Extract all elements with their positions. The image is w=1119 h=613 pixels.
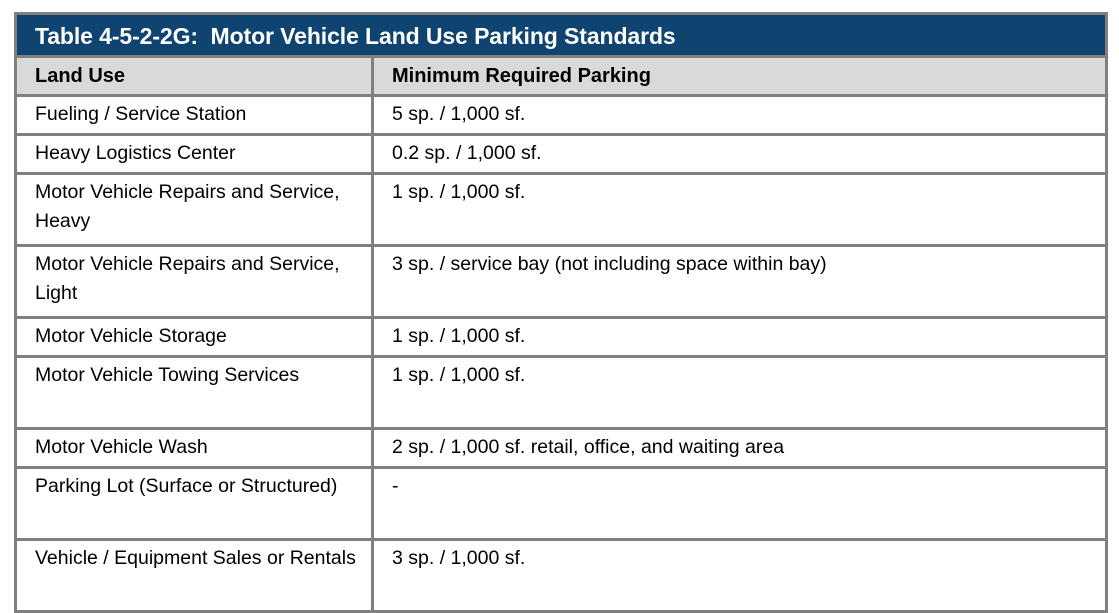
cell-parking: 1 sp. / 1,000 sf. (373, 318, 1107, 357)
cell-text: 1 sp. / 1,000 sf. (374, 319, 1105, 355)
cell-text: Motor Vehicle Wash (17, 430, 371, 466)
column-header-minimum-required-parking: Minimum Required Parking (373, 57, 1107, 96)
cell-land-use: Motor Vehicle Wash (16, 429, 373, 468)
table-title-cell: Table 4-5-2-2G: Motor Vehicle Land Use P… (16, 14, 1107, 57)
cell-parking: 0.2 sp. / 1,000 sf. (373, 135, 1107, 174)
table-row: Motor Vehicle Towing Services 1 sp. / 1,… (16, 357, 1107, 429)
cell-text: Motor Vehicle Storage (17, 319, 371, 355)
cell-land-use: Parking Lot (Surface or Structured) (16, 468, 373, 540)
cell-land-use: Fueling / Service Station (16, 96, 373, 135)
cell-parking: 2 sp. / 1,000 sf. retail, office, and wa… (373, 429, 1107, 468)
cell-text: Heavy Logistics Center (17, 136, 371, 172)
cell-land-use: Motor Vehicle Repairs and Service, Light (16, 246, 373, 318)
column-header-label: Minimum Required Parking (374, 58, 1105, 91)
table-row: Vehicle / Equipment Sales or Rentals 3 s… (16, 540, 1107, 612)
cell-text: Fueling / Service Station (17, 97, 371, 133)
cell-land-use: Vehicle / Equipment Sales or Rentals (16, 540, 373, 612)
cell-text: Motor Vehicle Repairs and Service, Light (17, 247, 371, 312)
cell-text: 5 sp. / 1,000 sf. (374, 97, 1105, 133)
cell-parking: 3 sp. / service bay (not including space… (373, 246, 1107, 318)
table-row: Parking Lot (Surface or Structured) - (16, 468, 1107, 540)
table-title-row: Table 4-5-2-2G: Motor Vehicle Land Use P… (16, 14, 1107, 57)
cell-text: Motor Vehicle Towing Services (17, 358, 371, 394)
cell-text: 2 sp. / 1,000 sf. retail, office, and wa… (374, 430, 1105, 466)
table-row: Motor Vehicle Storage 1 sp. / 1,000 sf. (16, 318, 1107, 357)
cell-text: 1 sp. / 1,000 sf. (374, 175, 1105, 211)
cell-parking: - (373, 468, 1107, 540)
table-row: Heavy Logistics Center 0.2 sp. / 1,000 s… (16, 135, 1107, 174)
parking-standards-table-container: Table 4-5-2-2G: Motor Vehicle Land Use P… (14, 12, 1105, 613)
table-row: Motor Vehicle Wash 2 sp. / 1,000 sf. ret… (16, 429, 1107, 468)
cell-land-use: Motor Vehicle Repairs and Service, Heavy (16, 174, 373, 246)
table-row: Motor Vehicle Repairs and Service, Light… (16, 246, 1107, 318)
cell-text: 3 sp. / service bay (not including space… (374, 247, 1105, 283)
cell-parking: 5 sp. / 1,000 sf. (373, 96, 1107, 135)
table-header-row: Land Use Minimum Required Parking (16, 57, 1107, 96)
cell-text: 1 sp. / 1,000 sf. (374, 358, 1105, 394)
cell-land-use: Heavy Logistics Center (16, 135, 373, 174)
cell-text: 0.2 sp. / 1,000 sf. (374, 136, 1105, 172)
cell-parking: 3 sp. / 1,000 sf. (373, 540, 1107, 612)
cell-text: Vehicle / Equipment Sales or Rentals (17, 541, 371, 577)
cell-text: 3 sp. / 1,000 sf. (374, 541, 1105, 577)
cell-text: Parking Lot (Surface or Structured) (17, 469, 371, 505)
cell-text: Motor Vehicle Repairs and Service, Heavy (17, 175, 371, 240)
parking-standards-table: Table 4-5-2-2G: Motor Vehicle Land Use P… (14, 12, 1108, 613)
cell-land-use: Motor Vehicle Towing Services (16, 357, 373, 429)
table-row: Fueling / Service Station 5 sp. / 1,000 … (16, 96, 1107, 135)
cell-text: - (374, 469, 1105, 505)
cell-parking: 1 sp. / 1,000 sf. (373, 174, 1107, 246)
cell-land-use: Motor Vehicle Storage (16, 318, 373, 357)
page-title: Table 4-5-2-2G: Motor Vehicle Land Use P… (17, 15, 1105, 53)
column-header-land-use: Land Use (16, 57, 373, 96)
cell-parking: 1 sp. / 1,000 sf. (373, 357, 1107, 429)
table-row: Motor Vehicle Repairs and Service, Heavy… (16, 174, 1107, 246)
column-header-label: Land Use (17, 58, 371, 91)
